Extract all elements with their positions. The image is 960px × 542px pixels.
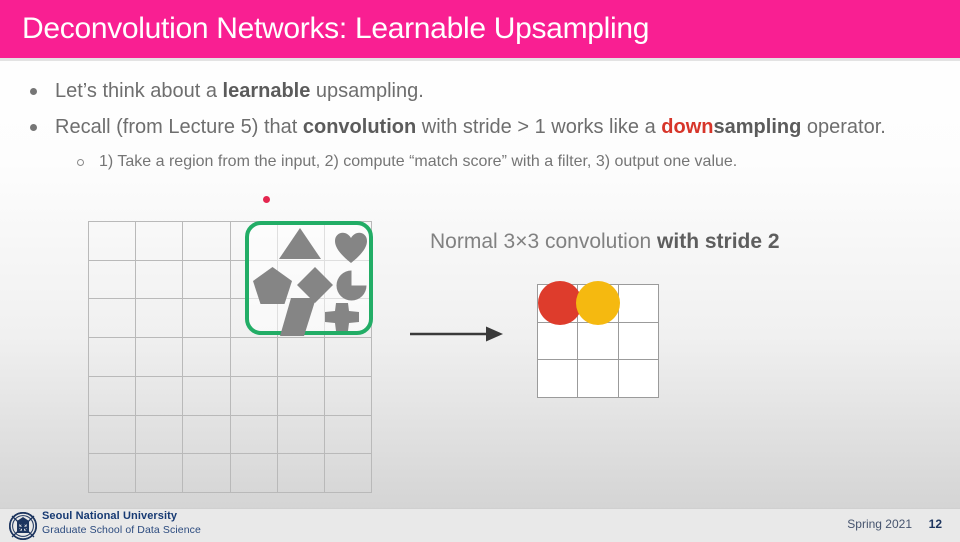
output-grid-cell	[538, 360, 578, 398]
bullet-hollow-dot-icon	[77, 159, 84, 166]
bullet-item-1-text: Let’s think about a learnable upsampling…	[55, 76, 424, 107]
output-grid-cell	[538, 323, 578, 361]
grid-cell	[325, 454, 372, 493]
grid-cell	[231, 377, 278, 416]
grid-cell	[325, 338, 372, 377]
bullet-item-3: 1) Take a region from the input, 2) comp…	[77, 151, 930, 173]
bullet-dot-icon	[30, 124, 37, 131]
grid-cell	[136, 338, 183, 377]
output-grid-cell	[619, 285, 659, 323]
page-number: 12	[929, 517, 942, 531]
grid-cell	[183, 377, 230, 416]
page-title: Deconvolution Networks: Learnable Upsamp…	[0, 12, 649, 46]
pen-mark-dot	[263, 196, 270, 203]
output-grid-cell	[578, 360, 618, 398]
grid-cell	[136, 416, 183, 455]
flow-arrow-icon	[408, 322, 508, 346]
grid-cell	[183, 261, 230, 300]
grid-cell	[183, 338, 230, 377]
grid-cell	[183, 454, 230, 493]
grid-cell	[89, 377, 136, 416]
triangle-icon	[278, 227, 322, 260]
grid-cell	[183, 299, 230, 338]
grid-cell	[325, 416, 372, 455]
convolution-caption: Normal 3×3 convolution with stride 2	[430, 230, 780, 254]
slide-title-bar: Deconvolution Networks: Learnable Upsamp…	[0, 0, 960, 58]
term-label: Spring 2021	[847, 517, 912, 531]
grid-cell	[89, 261, 136, 300]
organization-block: Seoul National University Graduate Schoo…	[42, 510, 201, 537]
grid-cell	[89, 338, 136, 377]
grid-cell	[231, 416, 278, 455]
grid-cell	[136, 222, 183, 261]
grid-cell	[183, 222, 230, 261]
pacman-icon	[336, 270, 367, 301]
output-grid-cell	[578, 323, 618, 361]
output-grid-cell	[619, 323, 659, 361]
bullet-item-2: Recall (from Lecture 5) that convolution…	[30, 112, 930, 143]
grid-cell	[136, 377, 183, 416]
grid-cell	[136, 454, 183, 493]
heart-icon	[334, 232, 368, 264]
grid-cell	[89, 416, 136, 455]
activation-yellow-circle	[576, 281, 620, 325]
grid-cell	[231, 454, 278, 493]
output-grid-cell	[619, 360, 659, 398]
grid-cell	[89, 454, 136, 493]
grid-cell	[231, 338, 278, 377]
grid-cell	[89, 299, 136, 338]
bullet-item-2-text: Recall (from Lecture 5) that convolution…	[55, 112, 886, 143]
organization-name: Seoul National University	[42, 510, 201, 524]
grid-cell	[136, 261, 183, 300]
title-divider	[0, 58, 960, 61]
grid-cell	[278, 377, 325, 416]
grid-cell	[183, 416, 230, 455]
grid-cell	[278, 338, 325, 377]
grid-cell	[136, 299, 183, 338]
bullet-item-1: Let’s think about a learnable upsampling…	[30, 76, 930, 107]
grid-cell	[89, 222, 136, 261]
grid-cell	[278, 454, 325, 493]
organization-department: Graduate School of Data Science	[42, 524, 201, 537]
parallelogram-icon	[279, 297, 317, 337]
bullet-dot-icon	[30, 88, 37, 95]
university-crest-logo-icon	[8, 511, 38, 541]
grid-cell	[325, 377, 372, 416]
grid-cell	[278, 416, 325, 455]
cross-icon	[324, 302, 360, 332]
bullet-list: Let’s think about a learnable upsampling…	[30, 76, 930, 173]
bullet-item-3-text: 1) Take a region from the input, 2) comp…	[99, 151, 737, 173]
